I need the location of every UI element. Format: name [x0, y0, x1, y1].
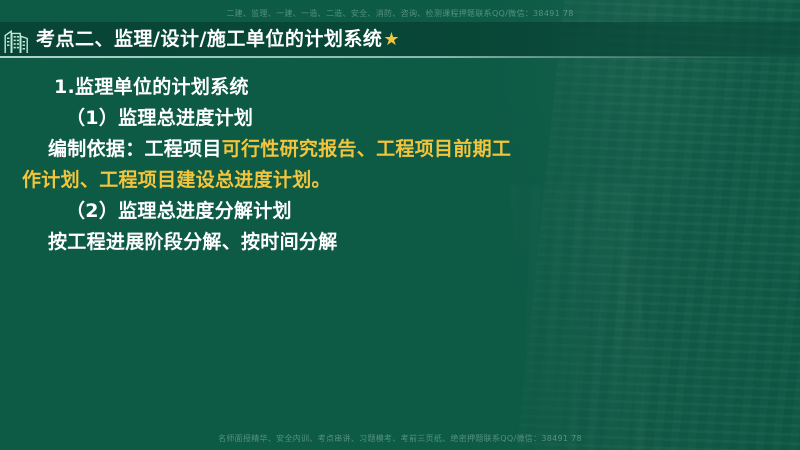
slide-title-bar: 考点二、监理/设计/施工单位的计划系统 ★: [0, 22, 800, 57]
content-line-basis-2: 作计划、工程项目建设总进度计划。: [0, 165, 800, 196]
text-segment: 编制依据：工程项目: [48, 138, 222, 160]
content-line-item-2-detail: 按工程进展阶段分解、按时间分解: [0, 227, 800, 258]
watermark-top: 二建、监理、一建、一造、二造、安全、消防、咨询、检测课程押题联系QQ/微信：38…: [0, 8, 800, 19]
text-segment-highlight: 作计划、工程项目建设总进度计划。: [22, 169, 331, 191]
text-segment: （1）监理总进度计划: [66, 107, 253, 129]
slide-content: 1.监理单位的计划系统 （1）监理总进度计划 编制依据：工程项目可行性研究报告、…: [0, 66, 800, 258]
building-icon: [2, 25, 32, 55]
watermark-bottom: 名师面授精华、安全内训、考点串讲、习题模考、考前三页纸、绝密押题联系QQ/微信：…: [0, 433, 800, 444]
content-line-item-1: （1）监理总进度计划: [0, 103, 800, 134]
slide-root: 二建、监理、一建、一造、二造、安全、消防、咨询、检测课程押题联系QQ/微信：38…: [0, 0, 800, 450]
star-icon: ★: [383, 31, 399, 49]
text-segment-highlight: 可行性研究报告、工程项目前期工: [222, 138, 512, 160]
text-segment: 1.监理单位的计划系统: [54, 76, 249, 98]
content-line-heading-1: 1.监理单位的计划系统: [0, 72, 800, 103]
title-divider: [0, 56, 800, 58]
text-segment: 按工程进展阶段分解、按时间分解: [48, 231, 338, 253]
text-segment: （2）监理总进度分解计划: [66, 200, 292, 222]
content-line-item-2: （2）监理总进度分解计划: [0, 196, 800, 227]
content-line-basis-1: 编制依据：工程项目可行性研究报告、工程项目前期工: [0, 134, 800, 165]
page-title: 考点二、监理/设计/施工单位的计划系统: [36, 30, 382, 49]
